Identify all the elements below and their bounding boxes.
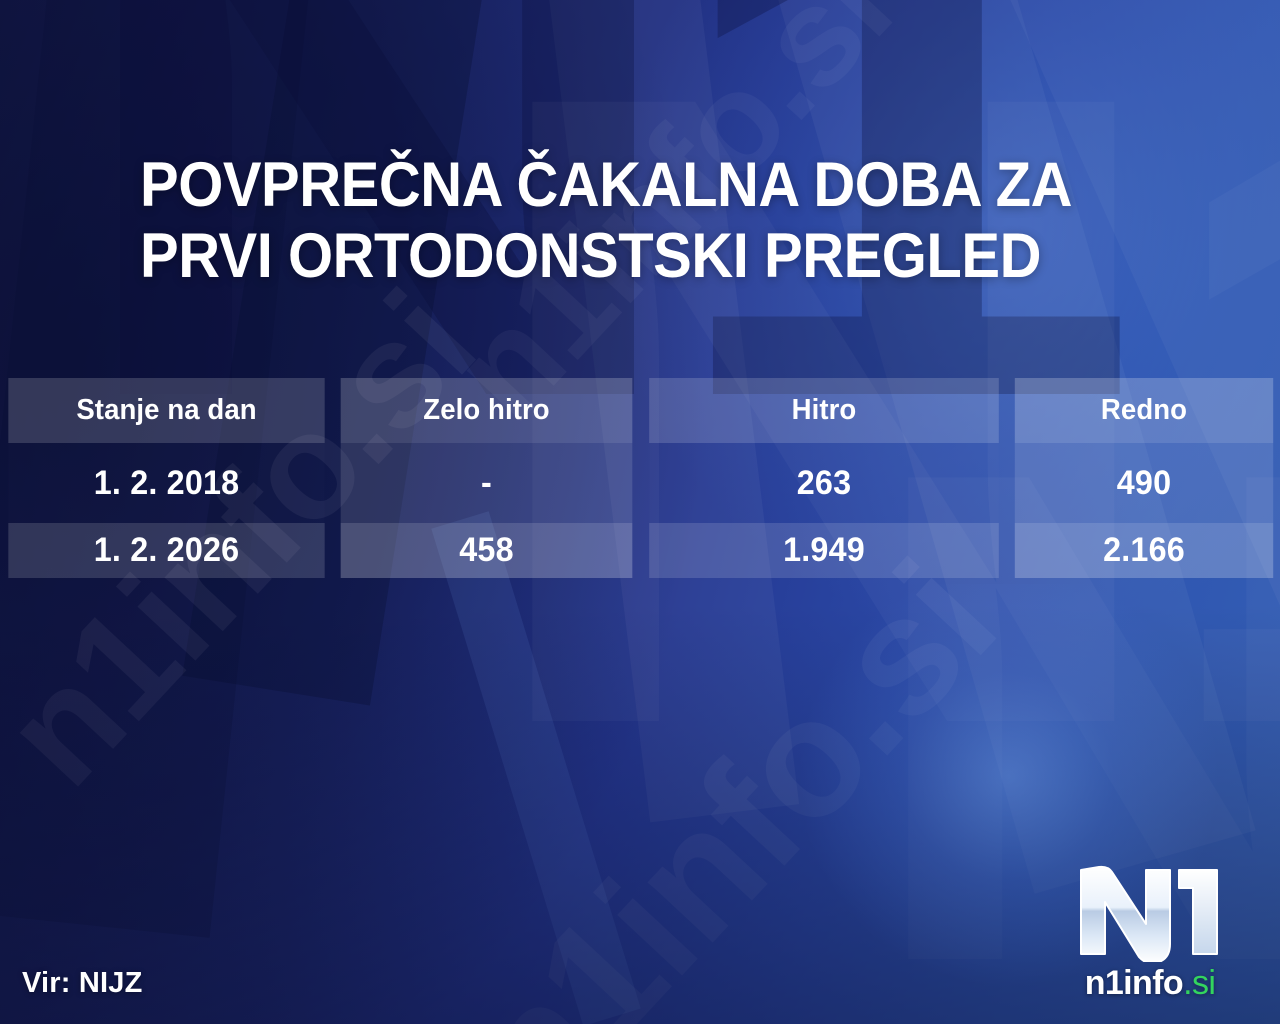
column-header-hitro: Hitro (649, 378, 999, 443)
cell-hitro: 1.949 (649, 523, 999, 578)
page-title: POVPREČNA ČAKALNA DOBA ZA PRVI ORTODONST… (140, 150, 1097, 291)
cell-redno: 2.166 (1015, 523, 1273, 578)
cell-date: 1. 2. 2018 (8, 443, 324, 523)
source-attribution: Vir: NIJZ (22, 967, 143, 1000)
data-table: Stanje na dan Zelo hitro Hitro Redno 1. … (0, 378, 1280, 578)
logo-wordmark: n1info.si (1046, 966, 1254, 1000)
page-title-line-2: PRVI ORTODONSTSKI PREGLED (140, 221, 1097, 292)
cell-hitro: 263 (649, 443, 999, 523)
table-row: 1. 2. 2026 458 1.949 2.166 (0, 523, 1280, 578)
background-shard (182, 0, 489, 706)
cell-date: 1. 2. 2026 (8, 523, 324, 578)
infographic-canvas: N1 N1 N1 n1info.si n1info.si n1info.si P… (0, 0, 1280, 1024)
column-header-zelo-hitro: Zelo hitro (341, 378, 633, 443)
column-header-redno: Redno (1015, 378, 1273, 443)
cell-zelo-hitro: - (341, 443, 633, 523)
cell-zelo-hitro: 458 (341, 523, 633, 578)
column-header-date: Stanje na dan (8, 378, 324, 443)
n1-logo-icon (1075, 862, 1225, 962)
logo-word-tld: .si (1183, 964, 1215, 1002)
background-shard (431, 511, 640, 1024)
table-header-row: Stanje na dan Zelo hitro Hitro Redno (0, 378, 1280, 443)
n1-logo[interactable]: n1info.si (1046, 862, 1254, 1000)
watermark-text: n1info.si (430, 526, 1032, 1024)
page-title-line-1: POVPREČNA ČAKALNA DOBA ZA (140, 150, 1072, 220)
cell-redno: 490 (1015, 443, 1273, 523)
logo-word-main: n1info (1085, 964, 1183, 1002)
table-row: 1. 2. 2018 - 263 490 (0, 443, 1280, 523)
